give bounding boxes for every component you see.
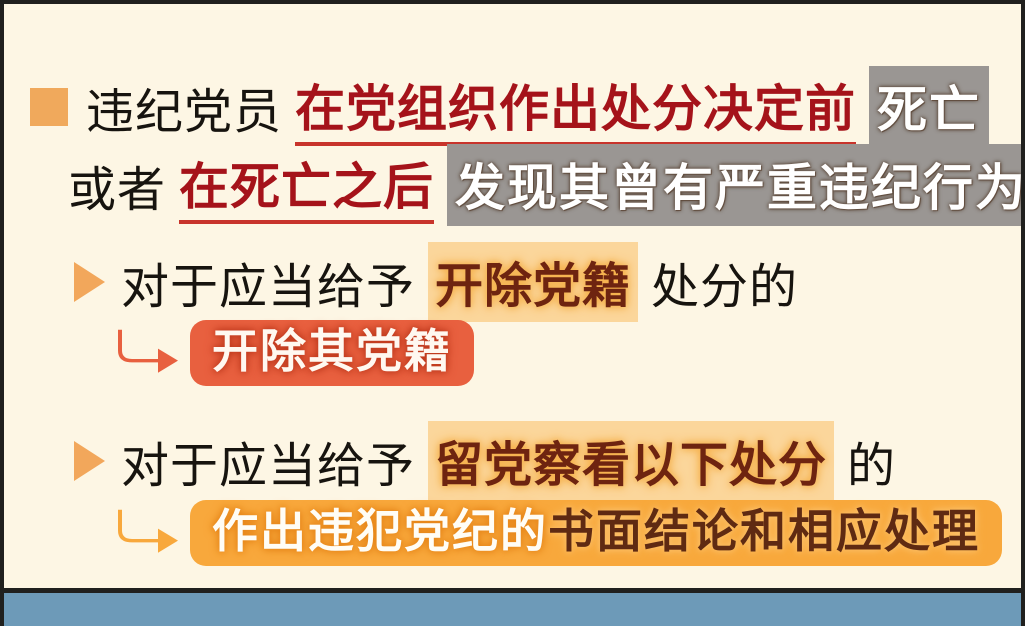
line4-badge: 开除其党籍 xyxy=(190,320,474,386)
footer-bar xyxy=(4,588,1021,626)
line5-plain-text-2: 的 xyxy=(847,426,896,496)
line3-peach-highlight-text: 开除党籍 xyxy=(428,242,638,322)
line3-plain-text-2: 处分的 xyxy=(651,247,798,317)
line6-badge: 作出违犯党纪的书面结论和相应处理 xyxy=(190,500,1002,566)
bullet-line-5: 对于应当给予 留党察看以下处分 的 xyxy=(74,421,896,501)
triangle-bullet-icon xyxy=(74,262,105,302)
line2-gray-highlight-text: 发现其曾有严重违纪行为 xyxy=(447,144,1025,226)
slide-canvas: 违纪党员 在党组织作出处分决定前 死亡 或者 在死亡之后 发现其曾有严重违纪行为… xyxy=(0,0,1025,626)
square-bullet-icon xyxy=(30,88,68,126)
result-line-4: 开除其党籍 xyxy=(116,320,474,386)
line5-peach-highlight-text: 留党察看以下处分 xyxy=(428,421,834,501)
bullet-line-1: 违纪党员 在党组织作出处分决定前 死亡 xyxy=(30,66,989,148)
bullet-line-3: 对于应当给予 开除党籍 处分的 xyxy=(74,242,798,322)
line6-badge-dark-run: 书面结论和相应处理 xyxy=(548,505,980,557)
elbow-arrow-icon xyxy=(116,328,178,378)
elbow-arrow-icon xyxy=(116,508,178,558)
line6-badge-light-run: 作出违犯党纪的 xyxy=(212,505,548,557)
line2-plain-text-1: 或者 xyxy=(68,150,166,220)
line2-red-underlined-text: 在死亡之后 xyxy=(179,147,434,224)
result-line-6: 作出违犯党纪的书面结论和相应处理 xyxy=(116,500,1002,566)
line5-plain-text-1: 对于应当给予 xyxy=(121,426,415,496)
bullet-line-2: 或者 在死亡之后 发现其曾有严重违纪行为 xyxy=(68,144,1025,226)
line1-gray-highlight-text: 死亡 xyxy=(869,66,989,148)
line1-red-underlined-text: 在党组织作出处分决定前 xyxy=(295,69,856,146)
line3-plain-text-1: 对于应当给予 xyxy=(121,247,415,317)
triangle-bullet-icon xyxy=(74,441,105,481)
line1-plain-text-1: 违纪党员 xyxy=(86,72,282,142)
